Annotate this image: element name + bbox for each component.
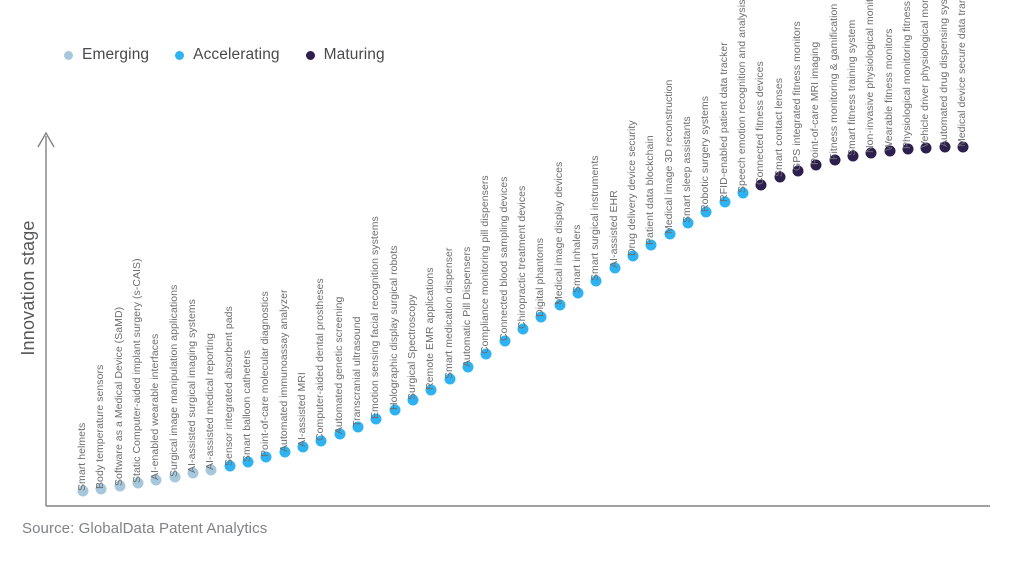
data-point-label: AI-enabled wearable interfaces xyxy=(150,334,161,480)
chart-root: EmergingAcceleratingMaturing Innovation … xyxy=(0,0,1024,576)
data-point-label: Surgical image manipulation applications xyxy=(169,285,180,477)
data-point-label: Automated drug dispensing systems xyxy=(939,0,950,147)
data-point-label: Medical image display devices xyxy=(554,162,565,305)
data-point-label: Point-of-care MRI imaging xyxy=(810,42,821,165)
data-point-label: RFID-enabled patient data tracker xyxy=(719,42,730,202)
data-point-label: Compliance monitoring pill dispensers xyxy=(480,175,491,354)
data-point-label: Chiropractic treatment devices xyxy=(517,186,528,329)
data-point-label: Smart sleep assistants xyxy=(682,116,693,223)
data-point-label: Vehicle driver physiological monitoring xyxy=(920,0,931,148)
data-point-label: Surgical Spectroscopy xyxy=(407,294,418,400)
data-point-label: GPS integrated fitness monitors xyxy=(792,21,803,171)
data-point-label: Digital phantoms xyxy=(535,238,546,317)
data-point-label: Physiological monitoring fitness equipme… xyxy=(902,0,913,149)
data-point-label: Smart inhalers xyxy=(572,225,583,293)
data-point-label: AI-assisted EHR xyxy=(609,190,620,268)
data-point-label: Drug delivery device security xyxy=(627,120,638,256)
data-point-label: Automatic Pill Dispensers xyxy=(462,247,473,367)
data-point-label: Wearable fitness monitors xyxy=(884,29,895,151)
data-point-label: Emotion sensing facial recognition syste… xyxy=(370,216,381,419)
source-note: Source: GlobalData Patent Analytics xyxy=(22,520,267,537)
scatter-plot-area: Smart helmetsBody temperature sensorsSof… xyxy=(0,0,1024,576)
data-point-label: Connected fitness devices xyxy=(755,61,766,185)
data-point-label: Patient data blockchain xyxy=(645,135,656,245)
data-point-label: Holographic display surgical robots xyxy=(389,245,400,410)
data-point-label: Connected blood sampling devices xyxy=(499,177,510,341)
data-point-label: Remote EMR applications xyxy=(425,267,436,390)
data-point-label: Smart balloon catheters xyxy=(242,350,253,462)
data-point-label: Speech emotion recognition and analysis xyxy=(737,0,748,193)
data-point-label: Medical device secure data transmission xyxy=(957,0,968,147)
data-point-label: Smart contact lenses xyxy=(774,78,785,177)
data-point-label: Body temperature sensors xyxy=(95,365,106,489)
data-point-label: Automated genetic screening xyxy=(334,297,345,434)
data-point-label: Fitness monitoring & gamification xyxy=(829,4,840,160)
data-point-label: Medical image 3D reconstruction xyxy=(664,80,675,234)
data-point-label: Sensor integrated absorbent pads xyxy=(224,306,235,466)
data-point-label: Transcranial ultrasound xyxy=(352,317,363,427)
data-point-label: Smart fitness training system xyxy=(847,20,858,156)
data-point-label: Smart surgical instruments xyxy=(590,155,601,281)
data-point-label: Smart medication dispenser xyxy=(444,248,455,379)
data-point-label: AI-assisted surgical imaging systems xyxy=(187,299,198,473)
data-point-label: AI-assisted MRI xyxy=(297,372,308,447)
data-point-label: AI-assisted medical reporting xyxy=(205,333,216,470)
data-point-label: Point-of-care molecular diagnostics xyxy=(260,291,271,457)
data-point-label: Static Computer-aided implant surgery (s… xyxy=(132,258,143,483)
data-point-label: Robotic surgery systems xyxy=(700,96,711,212)
data-point-label: Automated immunoassay analyzer xyxy=(279,289,290,452)
data-point-label: Software as a Medical Device (SaMD) xyxy=(114,307,125,486)
data-point-label: Non-invasive physiological monitoring xyxy=(865,0,876,153)
data-point-label: Computer-aided dental prostheses xyxy=(315,278,326,441)
data-point-label: Smart helmets xyxy=(77,423,88,491)
